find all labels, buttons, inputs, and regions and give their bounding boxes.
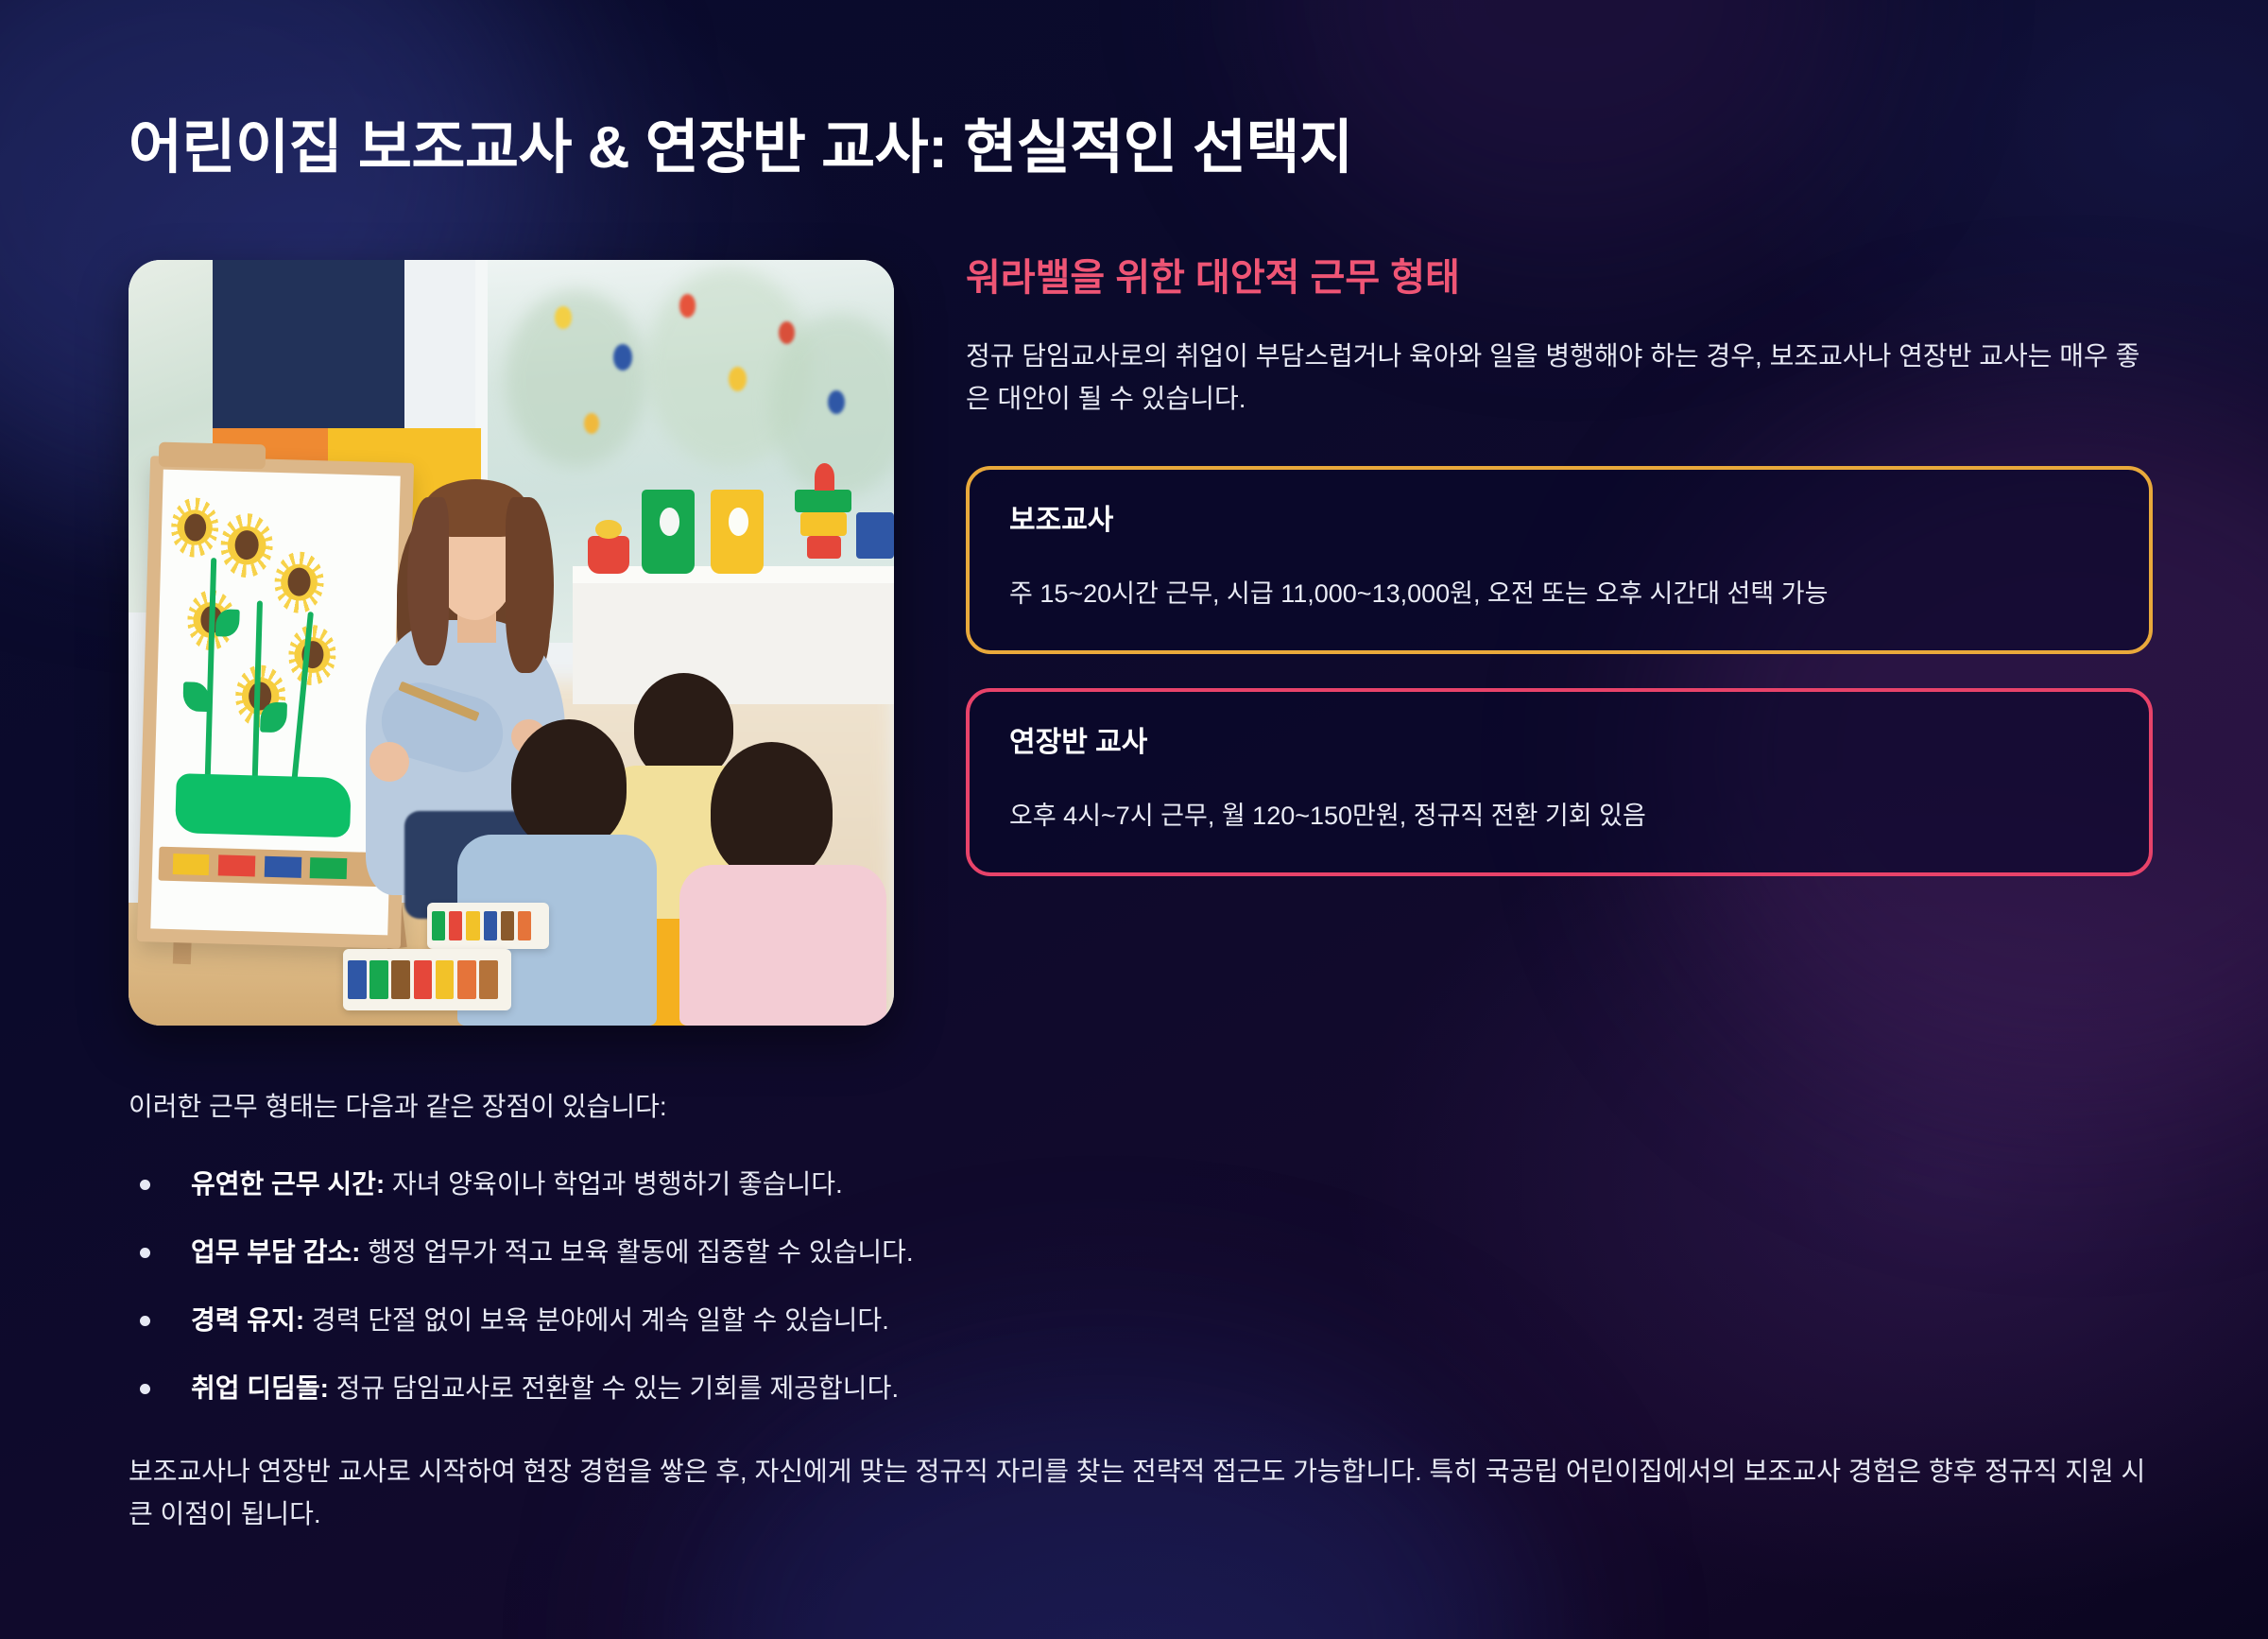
photo-sunflower-3 <box>273 550 325 613</box>
page-title: 어린이집 보조교사 & 연장반 교사: 현실적인 선택지 <box>129 113 1353 183</box>
photo-leaf-2 <box>182 681 209 711</box>
slide-canvas: 어린이집 보조교사 & 연장반 교사: 현실적인 선택지 <box>0 0 2268 1639</box>
photo-easel-crayon-2 <box>218 854 255 876</box>
benefit-desc: 행정 업무가 적고 보육 활동에 집중할 수 있습니다. <box>360 1237 913 1267</box>
benefits-list: 유연한 근무 시간: 자녀 양육이나 학업과 병행하기 좋습니다. 업무 부담 … <box>129 1165 2151 1408</box>
photo-window-dot-6 <box>828 390 845 414</box>
benefit-desc: 경력 단절 없이 보육 분야에서 계속 일할 수 있습니다. <box>304 1305 889 1335</box>
photo-toy-yellow-ball <box>595 520 622 538</box>
benefit-term: 취업 디딤돌: <box>191 1373 329 1403</box>
photo-wall-navy <box>213 260 404 436</box>
card-assistant-description: 주 15~20시간 근무, 시급 11,000~13,000원, 오전 또는 오… <box>1009 576 2109 612</box>
card-extended-title: 연장반 교사 <box>1009 726 2109 760</box>
background-glow-top-right <box>1274 0 1860 246</box>
photo-window-dot-2 <box>613 344 632 371</box>
classroom-photo-scene <box>129 260 894 1026</box>
benefits-lead-text: 이러한 근무 형태는 다음과 같은 장점이 있습니다: <box>129 1087 2151 1127</box>
photo-child-head-1 <box>511 719 627 850</box>
photo-window-dot-5 <box>779 321 795 344</box>
photo-sunflower-1 <box>170 497 219 559</box>
photo-window-dot-1 <box>555 306 571 329</box>
list-item: 경력 유지: 경력 단절 없이 보육 분야에서 계속 일할 수 있습니다. <box>129 1301 2151 1340</box>
photo-tree-blur-1 <box>506 290 646 466</box>
photo-stacker-ring-3 <box>807 536 841 559</box>
card-extended-class-teacher: 연장반 교사 오후 4시~7시 근무, 월 120~150만원, 정규직 전환 … <box>966 688 2153 876</box>
closing-paragraph: 보조교사나 연장반 교사로 시작하여 현장 경험을 쌓은 후, 자신에게 맞는 … <box>129 1450 2151 1536</box>
photo-teacher-hair-left <box>407 497 449 665</box>
photo-toy-red <box>588 536 629 575</box>
benefit-desc: 자녀 양육이나 학업과 병행하기 좋습니다. <box>385 1169 843 1199</box>
card-assistant-title: 보조교사 <box>1009 504 2109 538</box>
photo-child-head-3 <box>711 742 833 880</box>
photo-sunflower-5 <box>288 624 337 685</box>
right-column: 워라밸을 위한 대안적 근무 형태 정규 담임교사로의 취업이 부담스럽거나 육… <box>966 253 2153 910</box>
card-extended-description: 오후 4시~7시 근무, 월 120~150만원, 정규직 전환 기회 있음 <box>1009 798 2109 835</box>
photo-child-body-3 <box>679 865 886 1026</box>
photo-block-blue <box>856 512 895 559</box>
photo-stacker-ring-1 <box>795 490 852 512</box>
photo-bin-yellow-label <box>729 508 748 535</box>
photo-grass-stroke <box>175 772 352 837</box>
photo-easel-crayon-1 <box>173 854 210 875</box>
section-subheading: 워라밸을 위한 대안적 근무 형태 <box>966 253 2153 302</box>
photo-easel-tray <box>159 846 389 887</box>
photo-paint-tray-2 <box>427 903 550 949</box>
benefit-term: 업무 부담 감소: <box>191 1237 360 1267</box>
card-assistant-teacher: 보조교사 주 15~20시간 근무, 시급 11,000~13,000원, 오전… <box>966 466 2153 654</box>
classroom-photo <box>129 260 894 1026</box>
benefits-section: 이러한 근무 형태는 다음과 같은 장점이 있습니다: 유연한 근무 시간: 자… <box>129 1087 2151 1536</box>
photo-stacker-top <box>815 463 834 491</box>
photo-paint-tray-1 <box>343 949 511 1010</box>
intro-paragraph: 정규 담임교사로의 취업이 부담스럽거나 육아와 일을 병행해야 하는 경우, … <box>966 335 2145 421</box>
benefit-term: 유연한 근무 시간: <box>191 1169 385 1199</box>
photo-easel-clip <box>159 442 266 470</box>
photo-easel-crayon-3 <box>265 856 301 878</box>
photo-shelf <box>573 574 894 704</box>
list-item: 업무 부담 감소: 행정 업무가 적고 보육 활동에 집중할 수 있습니다. <box>129 1233 2151 1272</box>
benefit-desc: 정규 담임교사로 전환할 수 있는 기회를 제공합니다. <box>329 1373 899 1403</box>
photo-stacker-ring-2 <box>800 512 847 535</box>
photo-window-dot-3 <box>679 294 696 317</box>
benefit-term: 경력 유지: <box>191 1305 304 1335</box>
photo-easel-crayon-4 <box>310 857 347 879</box>
list-item: 유연한 근무 시간: 자녀 양육이나 학업과 병행하기 좋습니다. <box>129 1165 2151 1204</box>
photo-child-head-2 <box>634 673 733 780</box>
list-item: 취업 디딤돌: 정규 담임교사로 전환할 수 있는 기회를 제공합니다. <box>129 1369 2151 1408</box>
photo-sunflower-2 <box>220 512 274 578</box>
photo-bin-green-label <box>660 508 679 535</box>
photo-window-dot-7 <box>584 413 599 434</box>
